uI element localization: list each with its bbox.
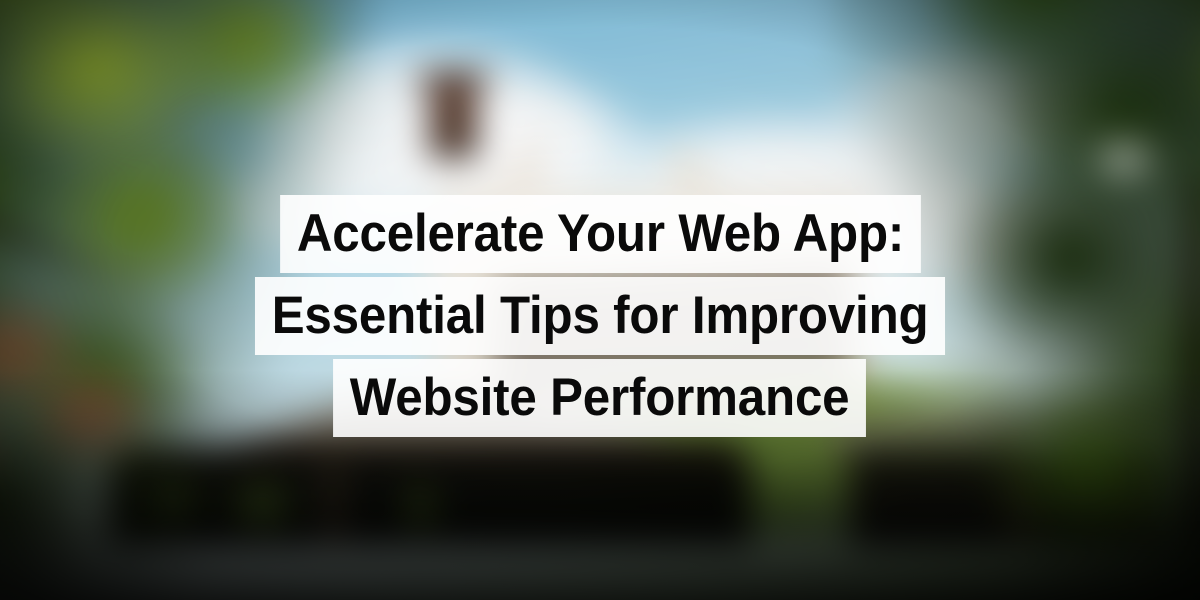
chimney bbox=[429, 80, 477, 159]
headline-line-3: Website Performance bbox=[333, 359, 866, 437]
chimney-cap bbox=[419, 71, 488, 88]
headline-block: Accelerate Your Web App: Essential Tips … bbox=[0, 195, 1200, 437]
headline-line-2: Essential Tips for Improving bbox=[255, 277, 945, 355]
sunlight-highlight bbox=[1089, 134, 1162, 184]
hero-banner: Accelerate Your Web App: Essential Tips … bbox=[0, 0, 1200, 600]
headline-line-1: Accelerate Your Web App: bbox=[280, 195, 921, 273]
pavilion-opening bbox=[402, 481, 437, 537]
